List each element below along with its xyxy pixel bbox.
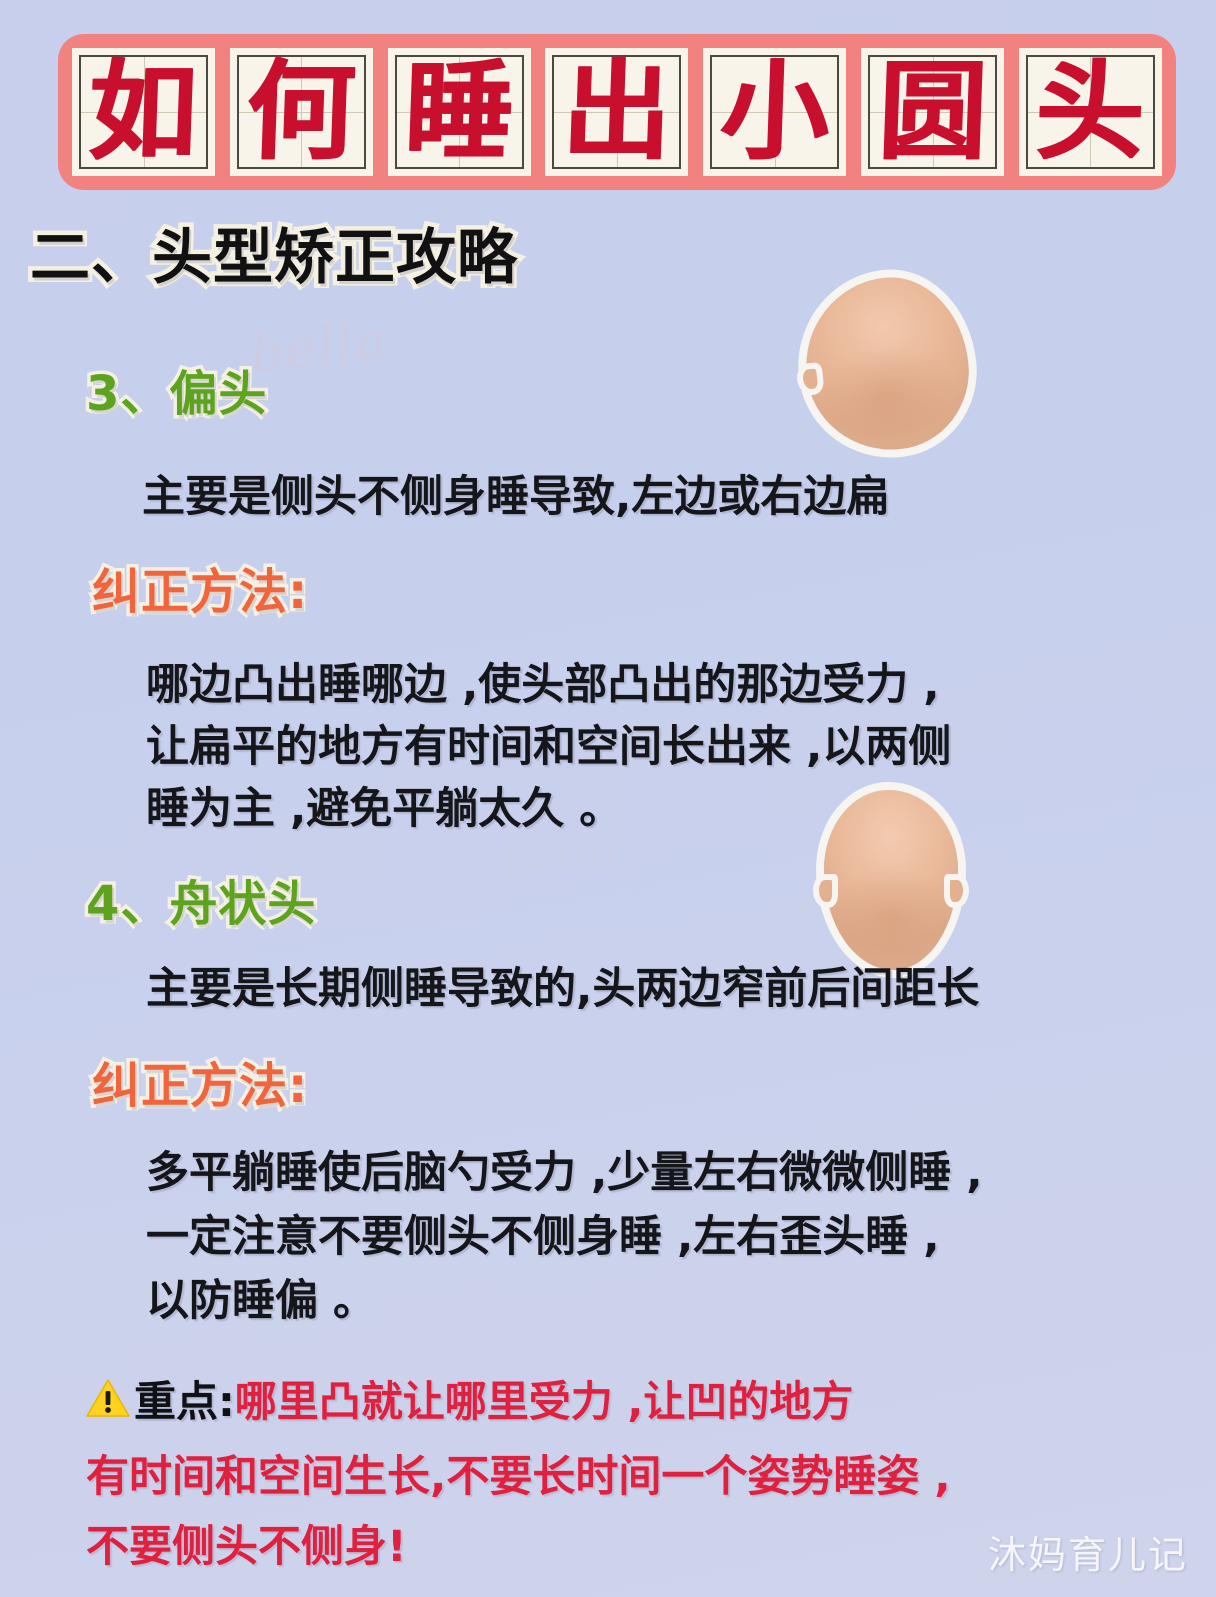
title-char: 睡 (403, 58, 515, 166)
key-point-label: 重点: (134, 1368, 235, 1429)
item-heading-4: 4、舟状头 (86, 880, 316, 928)
item-description-3: 主要是侧头不侧身睡导致,左边或右边扁 (142, 476, 889, 519)
method-line: 睡为主 ,避免平躺太久 。 (146, 788, 622, 831)
method-line: 让扁平的地方有时间和空间长出来 ,以两侧 (146, 726, 951, 769)
title-banner: 如 何 睡 出 小 圆 头 (58, 34, 1176, 190)
title-char: 圆 (877, 58, 989, 166)
title-cell: 出 (545, 48, 688, 176)
title-cell: 何 (230, 48, 373, 176)
method-label-4: 纠正方法: (92, 1062, 308, 1110)
title-cell: 头 (1019, 48, 1162, 176)
title-cell: 小 (703, 48, 846, 176)
asymmetric-head-icon (797, 270, 976, 458)
item-description-4: 主要是长期侧睡导致的,头两边窄前后间距长 (146, 968, 979, 1011)
method-label-3: 纠正方法: (92, 568, 308, 616)
faint-watermark: bella (498, 825, 621, 886)
title-cell: 如 (72, 48, 215, 176)
title-char: 如 (88, 58, 200, 166)
key-point-line-2: 有时间和空间生长,不要长时间一个姿势睡姿 , (86, 1442, 951, 1504)
key-point-line-3: 不要侧头不侧身! (86, 1512, 407, 1574)
key-point-block: 重点: 哪里凸就让哪里受力 ,让凹的地方 (86, 1372, 1186, 1424)
item-heading-3: 3、偏头 (86, 370, 267, 418)
title-char: 出 (561, 58, 673, 166)
title-char: 小 (719, 58, 831, 166)
faint-watermark: bella (247, 311, 391, 385)
key-point-first-row: 重点: 哪里凸就让哪里受力 ,让凹的地方 (86, 1372, 1186, 1424)
method-line: 哪边凸出睡哪边 ,使头部凸出的那边受力 , (146, 664, 940, 707)
title-cell: 圆 (861, 48, 1004, 176)
title-char: 头 (1035, 58, 1147, 166)
warning-triangle-icon (86, 1378, 130, 1418)
section-heading: 二、头型矫正攻略 (30, 228, 518, 288)
brand-watermark: 沐妈育儿记 (988, 1524, 1188, 1579)
method-line: 一定注意不要侧头不侧身睡 ,左右歪头睡 , (146, 1216, 940, 1259)
method-line: 以防睡偏 。 (146, 1280, 376, 1323)
title-char: 何 (245, 58, 357, 166)
elongated-head-icon (824, 790, 958, 970)
key-point-line-1: 哪里凸就让哪里受力 ,让凹的地方 (235, 1368, 854, 1429)
title-cell: 睡 (388, 48, 531, 176)
method-line: 多平躺睡使后脑勺受力 ,少量左右微微侧睡 , (146, 1152, 983, 1195)
